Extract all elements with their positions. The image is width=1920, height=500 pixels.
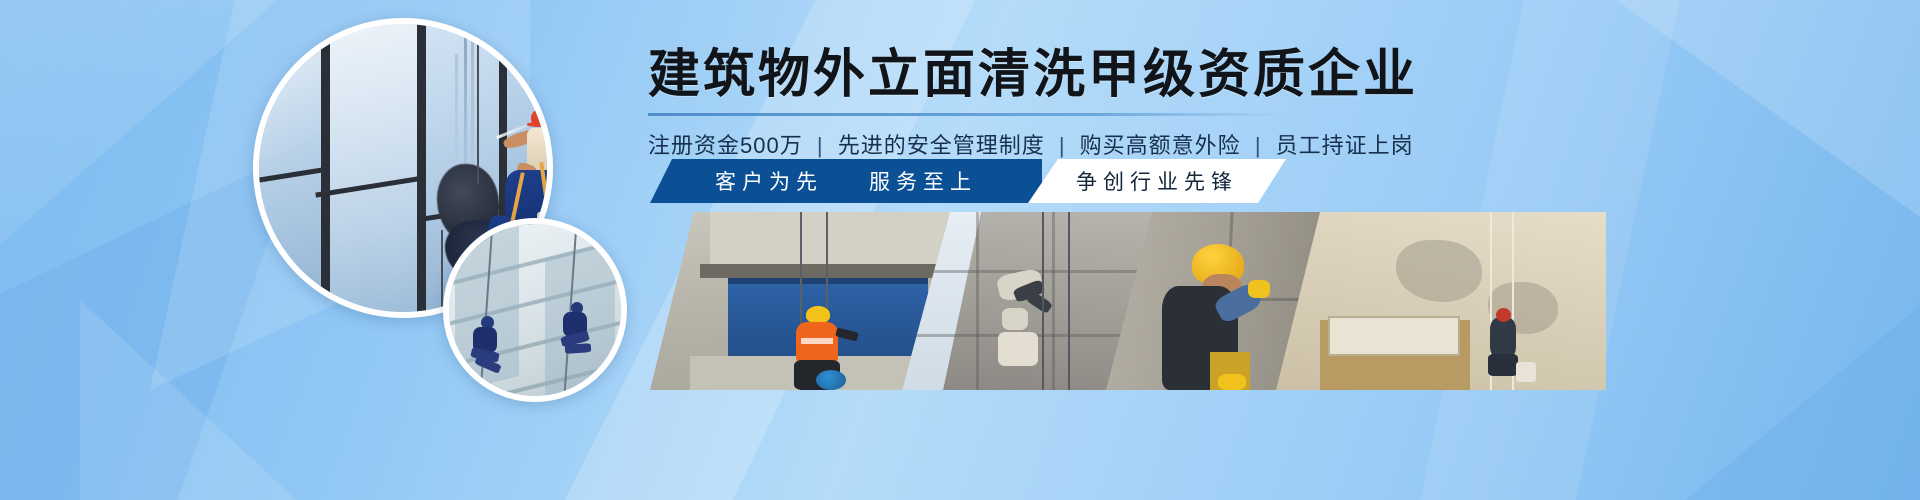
subtitle-separator-2: | [1052, 133, 1073, 158]
subtitle-part-3: 购买高额意外险 [1080, 133, 1241, 158]
slogan-1: 客户为先 [715, 166, 823, 196]
subtitle-separator-3: | [1248, 133, 1269, 158]
subtitle-part-2: 先进的安全管理制度 [838, 133, 1045, 158]
strip-photo-4 [1276, 212, 1606, 390]
slogan-group-blue: 客户为先 服务至上 [650, 159, 1042, 203]
title-underline [648, 113, 1282, 116]
background-triangle-8 [80, 300, 340, 500]
circle-photo-two-workers [443, 218, 627, 402]
background-triangle-2 [0, 150, 300, 500]
subtitle-part-1: 注册资金500万 [648, 133, 803, 158]
promo-banner: 建筑物外立面清洗甲级资质企业 注册资金500万 | 先进的安全管理制度 | 购买… [0, 0, 1920, 500]
two-workers-photo [449, 224, 621, 396]
slogan-ribbon: 客户为先 服务至上 争创行业先锋 [650, 159, 1286, 203]
slogan-2: 服务至上 [869, 166, 977, 196]
slogan-3: 争创行业先锋 [1028, 159, 1286, 203]
subtitle-separator-1: | [810, 133, 831, 158]
subtitle: 注册资金500万 | 先进的安全管理制度 | 购买高额意外险 | 员工持证上岗 [648, 128, 1878, 160]
copy-block: 建筑物外立面清洗甲级资质企业 注册资金500万 | 先进的安全管理制度 | 购买… [648, 46, 1878, 160]
photo-strip-right [1276, 212, 1606, 390]
photo-strip [650, 212, 1286, 390]
page-title: 建筑物外立面清洗甲级资质企业 [648, 46, 1878, 104]
subtitle-part-4: 员工持证上岗 [1276, 133, 1414, 158]
strip-photo-1 [650, 212, 950, 390]
